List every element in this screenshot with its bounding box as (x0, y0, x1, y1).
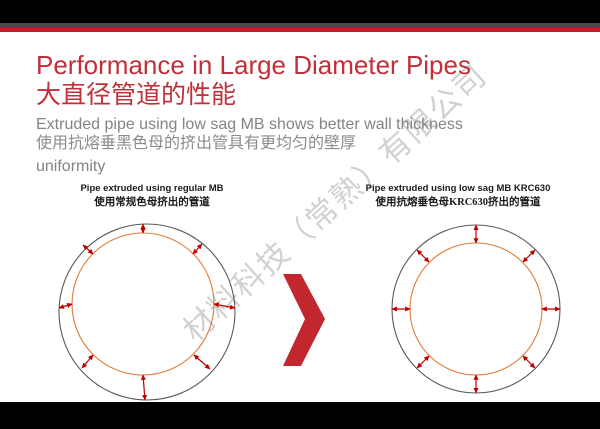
inner-bore-circle-right (410, 243, 542, 375)
top-black-band (0, 0, 600, 23)
caption-left-zh: 使用常规色母挤出的管道 (52, 195, 252, 210)
page-title-zh: 大直径管道的性能 (36, 81, 236, 110)
subtitle-en-line2: uniformity (36, 157, 105, 176)
inner-bore-circle-left (72, 233, 214, 375)
pipe-cross-section-right (384, 216, 574, 408)
wall-thickness-arrows-left (59, 224, 235, 400)
caption-right-zh: 使用抗熔垂色母KRC630挤出的管道 (348, 195, 568, 210)
subtitle-zh: 使用抗熔垂黑色母的挤出管具有更均匀的壁厚 (36, 134, 356, 153)
subtitle-en-line1: Extruded pipe using low sag MB shows bet… (36, 115, 463, 134)
caption-left-pipe: Pipe extruded using regular MB 使用常规色母挤出的… (52, 182, 252, 210)
caption-left-en: Pipe extruded using regular MB (52, 182, 252, 195)
page-title-en: Performance in Large Diameter Pipes (36, 50, 471, 80)
greater-than-chevron-icon (281, 272, 327, 368)
top-red-accent-bar (0, 28, 600, 32)
wall-thickness-arrows-right (392, 225, 560, 393)
caption-right-pipe: Pipe extruded using low sag MB KRC630 使用… (348, 182, 568, 210)
pipe-cross-section-left (50, 216, 250, 412)
slide-canvas: 材料科技（常熟）有限公司 Performance in Large Diamet… (0, 0, 600, 429)
caption-right-en: Pipe extruded using low sag MB KRC630 (348, 182, 568, 195)
outer-wall-circle-left (59, 224, 235, 400)
